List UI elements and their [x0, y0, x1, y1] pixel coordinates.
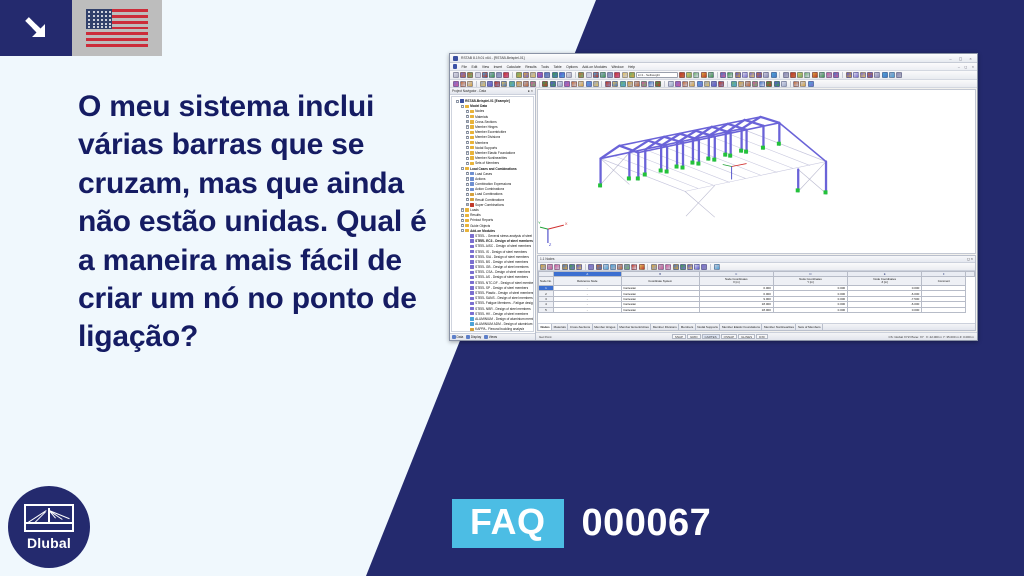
toolbar-icon[interactable] — [745, 81, 751, 87]
toolbar-separator — [779, 72, 780, 78]
toolbar-separator — [664, 81, 665, 87]
module-icon — [470, 245, 474, 248]
toolbar-icon[interactable] — [559, 72, 565, 78]
toolbar-icon[interactable] — [819, 72, 825, 78]
folder-icon — [470, 151, 474, 154]
us-flag-icon — [86, 9, 148, 47]
tab-icon — [466, 335, 470, 339]
toolbar-icon[interactable] — [704, 81, 710, 87]
menu-item-file[interactable]: File — [462, 65, 467, 69]
toolbar-icon[interactable] — [617, 264, 623, 270]
minimize-button[interactable]: – — [947, 55, 954, 61]
language-flag-badge[interactable] — [72, 0, 162, 56]
column-header[interactable]: Node CoordinatesY [m] — [773, 277, 847, 286]
toolbar-icon[interactable] — [771, 72, 777, 78]
structural-model-graphic: X Z Y — [538, 90, 975, 253]
collapse-icon[interactable]: - — [456, 100, 459, 103]
module-icon — [470, 281, 474, 284]
toolbar-icon[interactable] — [808, 81, 814, 87]
column-header[interactable]: Comment — [922, 277, 966, 286]
toolbar-icon[interactable] — [680, 264, 686, 270]
expand-icon[interactable]: + — [466, 141, 469, 144]
folder-icon — [470, 146, 474, 149]
table-close-icon[interactable]: × — [971, 257, 973, 261]
tree-item[interactable]: KAPPA - Flexural buckling analysis — [454, 327, 534, 332]
toolbar-secondary[interactable] — [450, 80, 977, 88]
table-tab-cross-sections[interactable]: Cross-Sections — [568, 324, 592, 330]
toolbar-icon[interactable] — [731, 81, 737, 87]
status-mode-glines[interactable]: GLINES — [738, 334, 755, 340]
toolbar-icon[interactable] — [701, 72, 707, 78]
tree-item-label: Loads — [470, 208, 479, 212]
menu-item-edit[interactable]: Edit — [471, 65, 477, 69]
folder-icon — [470, 125, 474, 128]
table-cell[interactable]: Cartesian — [621, 307, 699, 312]
toolbar-icon[interactable] — [557, 81, 563, 87]
expand-icon[interactable]: + — [466, 110, 469, 113]
menu-item-add-on-modules[interactable]: Add-on Modules — [582, 65, 607, 69]
tree-item-label: Materials — [475, 115, 488, 119]
column-letter[interactable] — [966, 272, 975, 277]
load-case-selector[interactable]: LC1 - Selfweight — [636, 72, 678, 78]
expand-icon[interactable]: + — [466, 136, 469, 139]
status-mode-dxf[interactable]: DXF — [756, 334, 768, 340]
table-tab-nodal-supports[interactable]: Nodal Supports — [696, 324, 721, 330]
module-icon — [470, 255, 474, 258]
expand-icon[interactable]: + — [466, 115, 469, 118]
toolbar-icon[interactable] — [467, 81, 473, 87]
toolbar-separator — [727, 81, 728, 87]
toolbar-icon[interactable] — [578, 81, 584, 87]
folder-icon — [470, 110, 474, 113]
nodes-table[interactable]: ABCDEF Node No.Reference NodeCoordinate … — [538, 271, 975, 313]
tab-icon — [484, 335, 488, 339]
toolbar-icon[interactable] — [540, 264, 546, 270]
menu-item-tools[interactable]: Tools — [541, 65, 549, 69]
toolbar-icon[interactable] — [687, 264, 693, 270]
navigator-tab-data[interactable]: Data — [452, 335, 463, 339]
tree-item-label: STEEL NTC-DF - Design of steel members — [475, 281, 533, 285]
toolbar-separator — [476, 81, 477, 87]
project-navigator-panel[interactable]: Project Navigator - Data ● × -RSTAB-Beis… — [450, 88, 536, 340]
column-header[interactable]: Coordinate System — [621, 277, 699, 286]
toolbar-icon[interactable] — [689, 81, 695, 87]
status-mode-cartes[interactable]: CARTES — [702, 334, 720, 340]
module-icon — [470, 328, 474, 331]
toolbar-icon[interactable] — [482, 72, 488, 78]
navigator-pin-icon[interactable]: ● — [528, 89, 530, 93]
toolbar-icon[interactable] — [552, 72, 558, 78]
folder-icon — [470, 115, 474, 118]
toolbar-icon[interactable] — [523, 72, 529, 78]
toolbar-separator — [710, 264, 711, 270]
tree-item-label: Model Data — [470, 104, 487, 108]
table-tab-member-nonlinearities[interactable]: Member Nonlinearities — [762, 324, 796, 330]
tree-item-label: STEEL AISC - Design of steel members — [475, 244, 531, 248]
toolbar-icon[interactable] — [651, 264, 657, 270]
tree-item-label: RSTAB-Beispiel-01 [Example] — [465, 99, 510, 103]
expand-icon[interactable]: + — [466, 188, 469, 191]
close-button[interactable]: × — [967, 55, 974, 61]
dlubal-logo: Dlubal — [8, 486, 90, 568]
toolbar-icon[interactable] — [658, 264, 664, 270]
menu-item-results[interactable]: Results — [525, 65, 536, 69]
toolbar-icon[interactable] — [774, 81, 780, 87]
expand-icon[interactable]: + — [466, 146, 469, 149]
toolbar-icon[interactable] — [668, 81, 674, 87]
table-tab-strip[interactable]: NodesMaterialsCross-SectionsMember Hinge… — [538, 323, 975, 330]
arrow-badge — [0, 0, 72, 56]
tree-item-label: STEEL IS - Design of steel members — [475, 250, 527, 254]
module-icon — [470, 297, 474, 300]
logo-wordmark: Dlubal — [27, 535, 71, 551]
toolbar-icon[interactable] — [612, 81, 618, 87]
toolbar-icon[interactable] — [693, 72, 699, 78]
toolbar-icon[interactable] — [882, 72, 888, 78]
module-icon — [470, 250, 474, 253]
toolbar-icon[interactable] — [675, 81, 681, 87]
faq-footer: FAQ 000067 — [452, 499, 711, 548]
toolbar-icon[interactable] — [586, 81, 592, 87]
toolbar-icon[interactable] — [790, 72, 796, 78]
toolbar-icon[interactable] — [749, 72, 755, 78]
toolbar-icon[interactable] — [516, 72, 522, 78]
toolbar-icon[interactable] — [620, 81, 626, 87]
toolbar-icon[interactable] — [711, 81, 717, 87]
toolbar-icon[interactable] — [673, 264, 679, 270]
toolbar-icon[interactable] — [701, 264, 707, 270]
navigator-tab-views[interactable]: Views — [484, 335, 497, 339]
menu-item-table[interactable]: Table — [553, 65, 561, 69]
flag-star — [93, 11, 95, 13]
toolbar-icon[interactable] — [853, 72, 859, 78]
menu-item-insert[interactable]: Insert — [494, 65, 502, 69]
flag-star — [105, 15, 107, 17]
module-icon — [470, 317, 474, 320]
status-mode-grid[interactable]: GRID — [687, 334, 701, 340]
table-title-bar: 1.1 Nodes ◻ × — [538, 256, 975, 263]
toolbar-icon[interactable] — [727, 72, 733, 78]
module-icon — [470, 234, 474, 237]
module-icon — [470, 322, 474, 325]
window-title: RSTAB 8.19.01 x64 - [RSTAB-Beispiel-01] — [461, 56, 525, 60]
folder-icon — [470, 136, 474, 139]
tree-item-label: STEEL Fatigue Members - Fatigue design — [475, 301, 533, 305]
toolbar-icon[interactable] — [530, 81, 536, 87]
table-row[interactable]: 5-Cartesian18.0000.0000.000 — [539, 307, 975, 312]
toolbar-icon[interactable] — [547, 264, 553, 270]
rstab-application-window[interactable]: RSTAB 8.19.01 x64 - [RSTAB-Beispiel-01] … — [449, 53, 978, 341]
collapse-icon[interactable]: - — [461, 105, 464, 108]
toolbar-icon[interactable] — [596, 264, 602, 270]
toolbar-icon[interactable] — [720, 72, 726, 78]
toolbar-icon[interactable] — [889, 72, 895, 78]
toolbar-icon[interactable] — [641, 81, 647, 87]
toolbar-icon[interactable] — [793, 81, 799, 87]
collapse-icon[interactable]: - — [461, 167, 464, 170]
flag-star — [101, 15, 103, 17]
table-tab-sets-of-members[interactable]: Sets of Members — [796, 324, 823, 330]
module-icon — [470, 286, 474, 289]
navigator-tab-label: Data — [457, 335, 464, 339]
toolbar-icon[interactable] — [554, 264, 560, 270]
menu-item-window[interactable]: Window — [611, 65, 623, 69]
column-header[interactable]: Reference Node — [553, 277, 621, 286]
toolbar-icon[interactable] — [759, 81, 765, 87]
window-title-bar[interactable]: RSTAB 8.19.01 x64 - [RSTAB-Beispiel-01] … — [450, 54, 977, 63]
toolbar-icon[interactable] — [586, 72, 592, 78]
toolbar-icon[interactable] — [494, 81, 500, 87]
tree-item-label: Members — [475, 141, 488, 145]
toolbar-icon[interactable] — [571, 81, 577, 87]
menu-item-calculate[interactable]: Calculate — [507, 65, 521, 69]
toolbar-icon[interactable] — [846, 72, 852, 78]
row-number-cell[interactable]: 5 — [539, 307, 554, 312]
toolbar-icon[interactable] — [860, 72, 866, 78]
toolbar-icon[interactable] — [766, 81, 772, 87]
table-tab-member-hinges[interactable]: Member Hinges — [593, 324, 618, 330]
toolbar-icon[interactable] — [562, 264, 568, 270]
tree-item-label: STEEL CSA - Design of steel members — [475, 270, 530, 274]
status-mode-snap[interactable]: SNAP — [672, 334, 686, 340]
expand-icon[interactable]: + — [466, 203, 469, 206]
navigator-title: Project Navigator - Data — [452, 89, 486, 93]
table-body[interactable]: 1-Cartesian0.0000.0000.0002-Cartesian0.0… — [539, 286, 975, 313]
expand-icon[interactable]: + — [466, 157, 469, 160]
table-cell[interactable]: 0.000 — [773, 307, 847, 312]
toolbar-icon[interactable] — [735, 72, 741, 78]
collapse-icon[interactable]: - — [461, 229, 464, 232]
toolbar-icon[interactable] — [460, 72, 466, 78]
toolbar-icon[interactable] — [467, 72, 473, 78]
status-mode-osnap[interactable]: OSNAP — [721, 334, 738, 340]
toolbar-icon[interactable] — [742, 72, 748, 78]
module-icon — [470, 260, 474, 263]
toolbar-icon[interactable] — [714, 264, 720, 270]
toolbar-icon[interactable] — [629, 72, 635, 78]
toolbar-icon[interactable] — [487, 81, 493, 87]
toolbar-icon[interactable] — [480, 81, 486, 87]
navigator-tab-display[interactable]: Display — [466, 335, 481, 339]
tree-item-label: Guide Objects — [470, 224, 490, 228]
table-toolbar[interactable] — [538, 263, 975, 271]
tree-item-label: STEEL - General stress analysis of steel… — [475, 234, 533, 238]
toolbar-icon[interactable] — [607, 72, 613, 78]
toolbar-icon[interactable] — [682, 81, 688, 87]
toolbar-icon[interactable] — [631, 264, 637, 270]
toolbar-icon[interactable] — [460, 81, 466, 87]
toolbar-icon[interactable] — [639, 264, 645, 270]
toolbar-separator — [539, 81, 540, 87]
menu-item-view[interactable]: View — [482, 65, 489, 69]
top-badge-bar — [0, 0, 162, 56]
toolbar-icon[interactable] — [489, 72, 495, 78]
toolbar-icon[interactable] — [453, 81, 459, 87]
table-restore-icon[interactable]: ◻ — [967, 257, 970, 261]
toolbar-icon[interactable] — [686, 72, 692, 78]
toolbar-icon[interactable] — [694, 264, 700, 270]
model-3d-viewport[interactable]: X Z Y — [537, 89, 976, 254]
expand-icon[interactable]: + — [461, 219, 464, 222]
toolbar-icon[interactable] — [496, 72, 502, 78]
toolbar-icon[interactable] — [593, 81, 599, 87]
tree-item-label: Member Elastic Foundations — [475, 151, 515, 155]
expand-icon[interactable]: + — [461, 224, 464, 227]
toolbar-icon[interactable] — [826, 72, 832, 78]
mdi-close-button[interactable]: × — [972, 65, 974, 69]
arrow-down-right-icon — [19, 11, 53, 45]
toolbar-icon[interactable] — [537, 72, 543, 78]
table-cell[interactable]: - — [553, 307, 621, 312]
toolbar-icon[interactable] — [763, 72, 769, 78]
flag-star — [105, 19, 107, 21]
data-table-panel[interactable]: 1.1 Nodes ◻ × ABCDEF Node No.Reference N… — [537, 255, 976, 331]
tree-item-label: Cross-Sections — [475, 120, 497, 124]
tree-item-label: STEEL GB - Design of steel members — [475, 265, 529, 269]
tree-item-label: Member Nonlinearities — [475, 156, 507, 160]
expand-icon[interactable]: + — [466, 162, 469, 165]
menu-bar[interactable]: FileEditViewInsertCalculateResultsToolsT… — [450, 63, 977, 71]
toolbar-icon[interactable] — [679, 72, 685, 78]
table-tab-nodes[interactable]: Nodes — [539, 324, 552, 330]
table-tab-members[interactable]: Members — [679, 324, 696, 330]
expand-icon[interactable]: + — [466, 183, 469, 186]
expand-icon[interactable]: + — [461, 214, 464, 217]
navigator-tree[interactable]: -RSTAB-Beispiel-01 [Example]-Model Data+… — [451, 96, 534, 332]
combo-icon — [470, 182, 474, 185]
flag-star — [109, 23, 111, 25]
menu-item-options[interactable]: Options — [566, 65, 578, 69]
toolbar-icon[interactable] — [453, 72, 459, 78]
toolbar-icon[interactable] — [697, 81, 703, 87]
toolbar-icon[interactable] — [501, 81, 507, 87]
toolbar-icon[interactable] — [800, 81, 806, 87]
column-header[interactable]: Node No. — [539, 277, 554, 286]
toolbar-icon[interactable] — [544, 72, 550, 78]
toolbar-icon[interactable] — [833, 72, 839, 78]
toolbar-icon[interactable] — [600, 72, 606, 78]
toolbar-icon[interactable] — [569, 264, 575, 270]
toolbar-icon[interactable] — [781, 81, 787, 87]
status-bar: Get Point SNAPGRIDCARTESOSNAPGLINESDXF C… — [536, 332, 977, 340]
toolbar-icon[interactable] — [566, 72, 572, 78]
toolbar-icon[interactable] — [783, 72, 789, 78]
toolbar-icon[interactable] — [896, 72, 902, 78]
expand-icon[interactable]: + — [466, 172, 469, 175]
folder-icon — [465, 229, 469, 232]
folder-icon — [470, 156, 474, 159]
toolbar-icon[interactable] — [738, 81, 744, 87]
toolbar-icon[interactable] — [576, 264, 582, 270]
expand-icon[interactable]: + — [466, 131, 469, 134]
toolbar-icon[interactable] — [756, 72, 762, 78]
toolbar-icon[interactable] — [614, 72, 620, 78]
maximize-button[interactable]: ◻ — [957, 55, 964, 61]
status-info: CS: Global XYZ Plane: XY — [889, 335, 924, 339]
toolbar-primary[interactable]: LC1 - Selfweight — [450, 71, 977, 80]
table-cell[interactable]: 0.000 — [848, 307, 922, 312]
toolbar-icon[interactable] — [797, 72, 803, 78]
mdi-minimize-button[interactable]: – — [958, 65, 960, 69]
toolbar-separator — [842, 72, 843, 78]
folder-icon — [470, 162, 474, 165]
toolbar-separator — [585, 264, 586, 270]
flag-star — [101, 11, 103, 13]
toolbar-icon[interactable] — [812, 72, 818, 78]
toolbar-icon[interactable] — [634, 81, 640, 87]
mdi-restore-button[interactable]: ◻ — [964, 65, 967, 69]
toolbar-separator — [647, 264, 648, 270]
toolbar-icon[interactable] — [603, 264, 609, 270]
tree-item-label: STEEL NBR - Design of steel members — [475, 307, 531, 311]
toolbar-icon[interactable] — [867, 72, 873, 78]
toolbar-icon[interactable] — [665, 264, 671, 270]
toolbar-icon[interactable] — [578, 72, 584, 78]
toolbar-icon[interactable] — [804, 72, 810, 78]
flag-star — [105, 23, 107, 25]
column-header[interactable]: Node CoordinatesX [m] — [699, 277, 773, 286]
toolbar-icon[interactable] — [509, 81, 515, 87]
toolbar-icon[interactable] — [605, 81, 611, 87]
table-tab-member-elastic-foundations[interactable]: Member Elastic Foundations — [720, 324, 762, 330]
navigator-tab-strip[interactable]: DataDisplayViews — [450, 333, 535, 340]
toolbar-separator — [717, 72, 718, 78]
table-tab-member-divisions[interactable]: Member Divisions — [651, 324, 679, 330]
table-cell[interactable]: 18.000 — [699, 307, 773, 312]
table-cell[interactable] — [922, 307, 966, 312]
expand-icon[interactable]: + — [466, 125, 469, 128]
toolbar-icon[interactable] — [627, 81, 633, 87]
navigator-close-icon[interactable]: × — [531, 89, 533, 93]
toolbar-icon[interactable] — [648, 81, 654, 87]
toolbar-icon[interactable] — [475, 72, 481, 78]
tree-item-label: STEEL SIA - Design of steel members — [475, 255, 529, 259]
table-tab-member-eccentricities[interactable]: Member Eccentricities — [618, 324, 652, 330]
expand-icon[interactable]: + — [461, 208, 464, 211]
folder-icon — [470, 141, 474, 144]
toolbar-icon[interactable] — [874, 72, 880, 78]
expand-icon[interactable]: + — [466, 177, 469, 180]
toolbar-icon[interactable] — [564, 81, 570, 87]
toolbar-icon[interactable] — [550, 81, 556, 87]
flag-stripe — [86, 38, 148, 41]
expand-icon[interactable]: + — [466, 120, 469, 123]
menu-item-help[interactable]: Help — [628, 65, 635, 69]
toolbar-icon[interactable] — [655, 81, 661, 87]
table-grid-container[interactable]: ABCDEF Node No.Reference NodeCoordinate … — [538, 271, 975, 323]
toolbar-icon[interactable] — [593, 72, 599, 78]
faq-number: 000067 — [582, 502, 712, 545]
toolbar-icon[interactable] — [516, 81, 522, 87]
toolbar-icon[interactable] — [530, 72, 536, 78]
table-tab-materials[interactable]: Materials — [552, 324, 568, 330]
toolbar-icon[interactable] — [752, 81, 758, 87]
toolbar-icon[interactable] — [622, 72, 628, 78]
expand-icon[interactable]: + — [466, 198, 469, 201]
expand-icon[interactable]: + — [466, 151, 469, 154]
toolbar-icon[interactable] — [542, 81, 548, 87]
toolbar-icon[interactable] — [610, 264, 616, 270]
toolbar-icon[interactable] — [588, 264, 594, 270]
expand-icon[interactable]: + — [466, 193, 469, 196]
table-title: 1.1 Nodes — [540, 257, 555, 261]
toolbar-icon[interactable] — [523, 81, 529, 87]
toolbar-icon[interactable] — [624, 264, 630, 270]
toolbar-icon[interactable] — [708, 72, 714, 78]
column-header[interactable]: Node CoordinatesZ [m] — [848, 277, 922, 286]
toolbar-icon[interactable] — [503, 72, 509, 78]
toolbar-icon[interactable] — [718, 81, 724, 87]
